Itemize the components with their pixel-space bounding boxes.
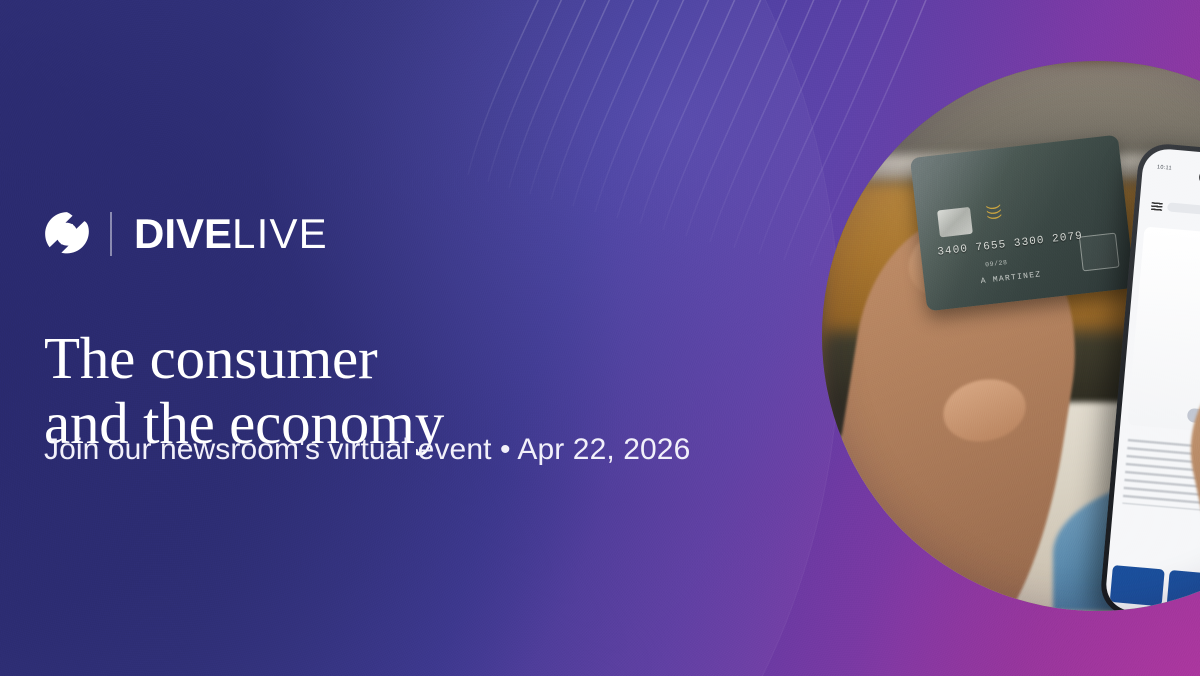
card-number: 3400 7655 3300 2079: [937, 230, 1084, 258]
phone-action-buttons: [1110, 565, 1200, 611]
brand-divider: [110, 212, 112, 256]
phone-search-input: [1167, 203, 1200, 224]
card-expiry: 09/28: [985, 259, 1008, 269]
photo-scene: ))) 3400 7655 3300 2079 09/28 A MARTINEZ…: [822, 61, 1200, 611]
headline-line-1: The consumer: [44, 325, 377, 391]
phone-product-jeans-image: [1171, 246, 1200, 419]
banner-content: DIVELIVE The consumer and the economy Jo…: [44, 0, 764, 676]
emv-chip-icon: [937, 208, 973, 238]
phone-buy-button: [1110, 565, 1165, 606]
event-photo-circle: ))) 3400 7655 3300 2079 09/28 A MARTINEZ…: [822, 61, 1200, 611]
phone-product-image-card: [1127, 226, 1200, 439]
brand-lockup: DIVELIVE: [44, 206, 328, 262]
phone-status-time: 10:11: [1157, 164, 1172, 171]
credit-card: ))) 3400 7655 3300 2079 09/28 A MARTINEZ: [910, 135, 1135, 312]
phone-product-spec-lines: [1122, 439, 1200, 517]
dive-logo-icon: [44, 211, 90, 257]
dive-live-promo-banner: ))) 3400 7655 3300 2079 09/28 A MARTINEZ…: [0, 0, 1200, 676]
event-subtitle: Join our newsroom's virtual event • Apr …: [44, 432, 690, 468]
hamburger-menu-icon: [1151, 202, 1163, 211]
brand-wordmark: DIVELIVE: [134, 213, 328, 255]
card-holder-name: A MARTINEZ: [981, 271, 1043, 287]
brand-word-dive: DIVE: [134, 210, 232, 257]
phone-cart-button: [1167, 570, 1200, 611]
card-brand-logo: [1079, 232, 1120, 272]
contactless-payment-icon: ))): [975, 205, 1003, 227]
brand-word-live: LIVE: [232, 210, 328, 257]
